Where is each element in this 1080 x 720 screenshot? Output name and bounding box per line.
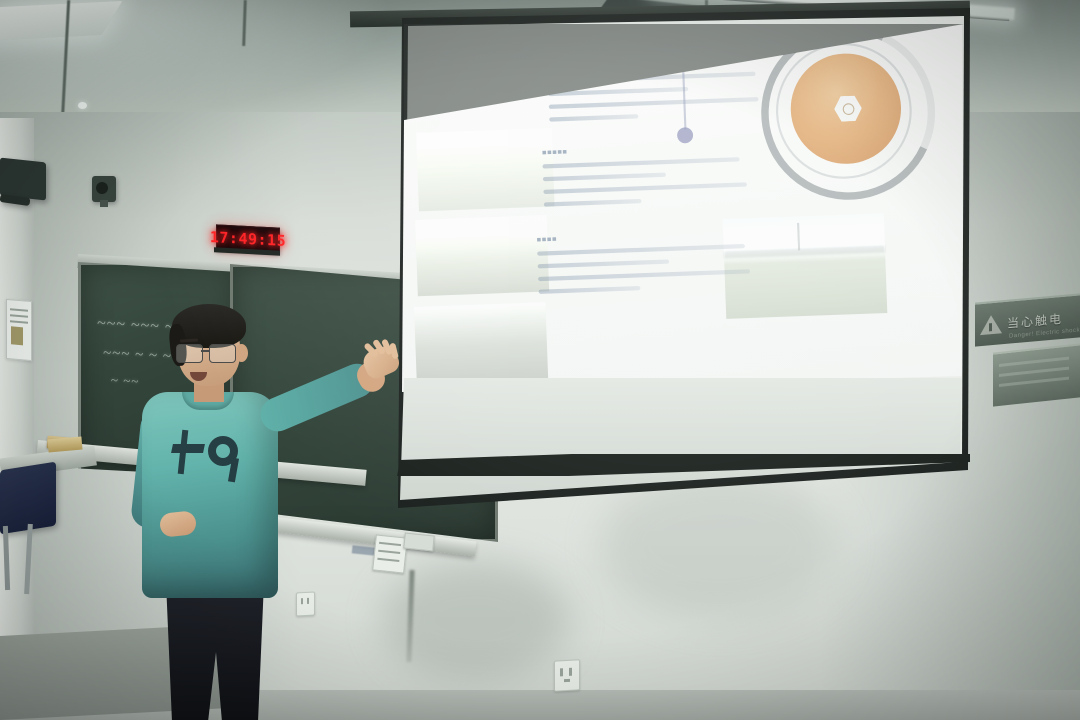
slide-photo-field-1	[416, 128, 554, 211]
wall-control-panel	[993, 343, 1080, 406]
ceiling-indicator-light	[78, 102, 87, 109]
outlet-slot	[301, 598, 303, 604]
sweatshirt-graphic	[170, 428, 248, 480]
slide-text-line	[543, 173, 666, 182]
wall-camera	[92, 176, 116, 202]
graphic-stroke	[171, 444, 205, 453]
camera-mount	[100, 200, 108, 207]
slide-text-line	[538, 269, 750, 281]
photo-horizon	[724, 245, 885, 258]
wall-outlet-1	[296, 592, 315, 617]
panel-line	[999, 377, 1069, 387]
slide-text-line	[542, 157, 739, 168]
outlet-slot	[569, 668, 572, 676]
glasses-bridge	[201, 350, 209, 352]
projection-screen: ■■■■ ■■■■■ ■■■■	[340, 8, 970, 508]
outlet-slot	[564, 679, 570, 682]
slide-text-line	[539, 286, 641, 294]
camera-lens-icon	[96, 182, 108, 194]
panel-line	[999, 367, 1069, 377]
presenter-legs	[162, 582, 268, 720]
hazard-sign-text: 当心触电	[1007, 309, 1063, 331]
eyeglasses-icon	[176, 344, 238, 361]
slide-text-line	[549, 97, 759, 109]
wall-outlet-2	[554, 659, 580, 691]
slide-photo-field-3	[414, 302, 548, 387]
panel-line	[999, 357, 1069, 367]
glasses-lens-left	[176, 344, 203, 363]
notice-line	[10, 308, 28, 312]
classroom-photo-scene: 当心触电 Danger! Electric shock ~~~ ~~~ ~) ~…	[0, 0, 1080, 720]
slide-heading: ■■■■	[537, 236, 558, 244]
presenter	[120, 300, 420, 720]
slide-text-line	[537, 244, 745, 256]
outlet-slot	[307, 598, 309, 604]
slide-accent-dot-blue	[677, 127, 693, 143]
photo-pole	[797, 223, 800, 251]
wall-notice	[6, 299, 32, 361]
notice-line	[10, 320, 28, 324]
slide-text-line	[543, 182, 747, 194]
slide-text-line	[544, 199, 642, 207]
wall-corner-left	[0, 118, 34, 718]
slide-text-line	[538, 259, 670, 268]
notice-line	[10, 314, 28, 318]
glasses-lens-right	[209, 344, 236, 363]
outlet-slot	[560, 668, 563, 676]
warning-triangle-icon	[980, 314, 1002, 335]
slide-photo-landscape	[723, 213, 888, 318]
presenter-torso	[142, 392, 278, 598]
slide-photo-field-2	[415, 215, 549, 296]
electric-hazard-sign: 当心触电 Danger! Electric shock	[975, 293, 1080, 346]
slide-text-line	[549, 114, 638, 121]
notice-emblem	[11, 326, 23, 345]
slide-heading: ■■■■■	[542, 149, 568, 157]
